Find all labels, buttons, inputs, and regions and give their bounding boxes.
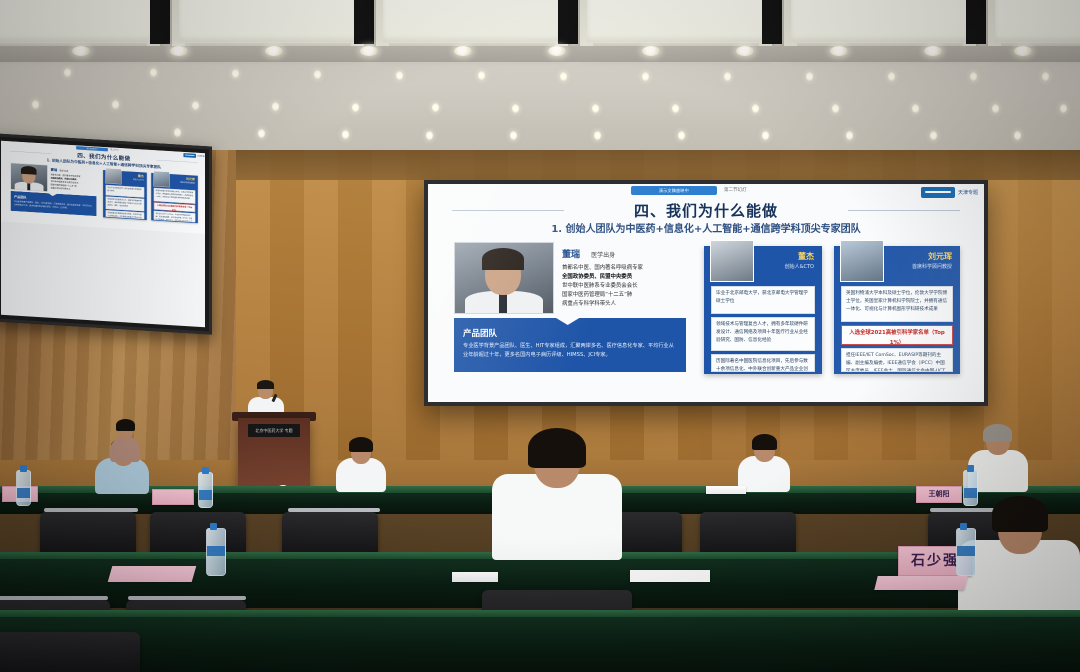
product-team-title: 产品团队	[454, 318, 686, 339]
ppt-status-tab[interactable]: 演示文稿放映中	[631, 186, 717, 195]
audience-person	[958, 500, 1080, 620]
chair	[700, 512, 796, 556]
product-team-text: 专业医学背景产品团队、医生、HIT专家组成，汇聚两岸多名、医疗信息化专家、平均行…	[454, 339, 686, 360]
person1-block-mini: 董瑞医学出身 首都名中医、国内著名呼吸病专家 全国政协委员、民盟中央委员 世中联…	[11, 163, 99, 195]
person2-block-mini: 董杰 创始人&CTO 毕业于北京邮电大学，获北京邮电大学管理学硕士学位 领域技术…	[103, 170, 147, 220]
company-logo-icon	[921, 187, 955, 198]
table-row-near	[0, 614, 1080, 672]
slide-title: 四、我们为什么能做	[428, 200, 984, 221]
wall-shadow-band	[236, 150, 1080, 180]
ppt-slide-indicator: 第二节幻灯	[724, 187, 747, 193]
audience-person	[336, 438, 386, 492]
document-sheet	[874, 576, 967, 590]
person2-card: 历国际著名中国医院信息化项目，先后参与数十余项信息化、中外联合创新重大产品企业创…	[711, 354, 815, 372]
name-card	[152, 489, 194, 505]
document-sheet	[108, 566, 197, 582]
ceiling	[0, 0, 1080, 150]
person3-card: 担任IEEE/IET ComSoc、EURASIP等期刊的主编、副主编及编委，I…	[841, 348, 953, 372]
logo-text: 天津专题	[958, 189, 978, 196]
person2-name: 董杰	[798, 251, 814, 262]
brand-logo: 天津专题	[921, 187, 978, 198]
person3-photo-mini	[153, 171, 169, 188]
projection-screen: 演示文稿放映中 第二节幻灯 天津专题 四、我们为什么能做 1. 创始人团队为中医…	[424, 180, 988, 406]
name-card: 王朝阳	[916, 486, 962, 503]
slide-subtitle: 1. 创始人团队为中医药+信息化+人工智能+通信跨学科顶尖专家团队	[428, 220, 984, 235]
chair	[0, 632, 140, 672]
person3-highlight-card: 入选全球2021高被引科学家名单（Top 1%）	[841, 325, 953, 345]
ppt-tab-secondary-mini: 第二节幻灯	[111, 149, 119, 152]
person3-card: 英国利物浦大学本科及硕士学位，伦敦大学学院博士学位，英国皇家计算机科学院院士，并…	[841, 286, 953, 322]
person2-photo-mini	[105, 168, 121, 185]
podium-sign: 北京中医药大学 专题	[248, 424, 300, 437]
water-bottle	[956, 528, 976, 576]
side-monitor: 演示文稿放映中 第二节幻灯 天津专题 四、我们为什么能做 1. 创始人团队为中医…	[0, 133, 212, 334]
person1-role: 医学出身	[591, 252, 615, 259]
person2-block: 董杰 创始人&CTO 毕业于北京邮电大学，获北京邮电大学管理学硕士学位 领域技术…	[704, 246, 822, 374]
notebook	[630, 570, 710, 582]
document-sheet	[452, 572, 498, 582]
chair	[40, 512, 136, 556]
product-team-box: 产品团队 专业医学背景产品团队、医生、HIT专家组成，汇聚两岸多名、医疗信息化专…	[454, 318, 686, 372]
person1-block: 董瑞 医学出身 首都名中医、国内著名呼吸病专家 全国政协委员、民盟中央委员 世中…	[454, 242, 692, 314]
document-sheet	[706, 486, 746, 494]
person3-block-mini: 刘元珲 首席科学顾问教授 英国利物浦大学本科及硕士学位，伦敦大学学院博士学位，英…	[151, 173, 198, 223]
audience-person	[738, 436, 790, 492]
presentation-slide: 演示文稿放映中 第二节幻灯 天津专题 四、我们为什么能做 1. 创始人团队为中医…	[428, 184, 984, 402]
conference-hall-photo: 演示文稿放映中 第二节幻灯 天津专题 四、我们为什么能做 1. 创始人团队为中医…	[0, 0, 1080, 672]
chair	[282, 512, 378, 556]
person1-photo	[454, 242, 554, 314]
water-bottle	[198, 472, 213, 508]
audience-person	[108, 420, 142, 460]
person2-photo	[710, 240, 754, 282]
person1-name: 董瑞	[562, 250, 580, 260]
product-team-box-mini: 产品团队 专业医学背景产品团队、医生、HIT专家组成，汇聚两岸多名、医疗信息化专…	[11, 191, 97, 216]
water-bottle	[16, 470, 31, 506]
person2-card: 领域技术与管理复合人才，拥有多年软硬件研发设计、通信网络及项目十年医疗行业从业经…	[711, 317, 815, 351]
chair	[150, 512, 246, 556]
person3-block: 刘元珲 首席科学顾问教授 英国利物浦大学本科及硕士学位，伦敦大学学院博士学位，英…	[834, 246, 960, 374]
person1-photo-mini	[11, 163, 48, 192]
person3-photo	[840, 240, 884, 282]
person3-name: 刘元珲	[928, 251, 952, 262]
water-bottle	[206, 528, 226, 576]
person3-role: 首席科学顾问教授	[912, 263, 952, 270]
person2-card: 毕业于北京邮电大学，获北京邮电大学管理学硕士学位	[711, 286, 815, 314]
audience-person	[492, 430, 622, 556]
person2-role: 创始人&CTO	[785, 263, 814, 270]
